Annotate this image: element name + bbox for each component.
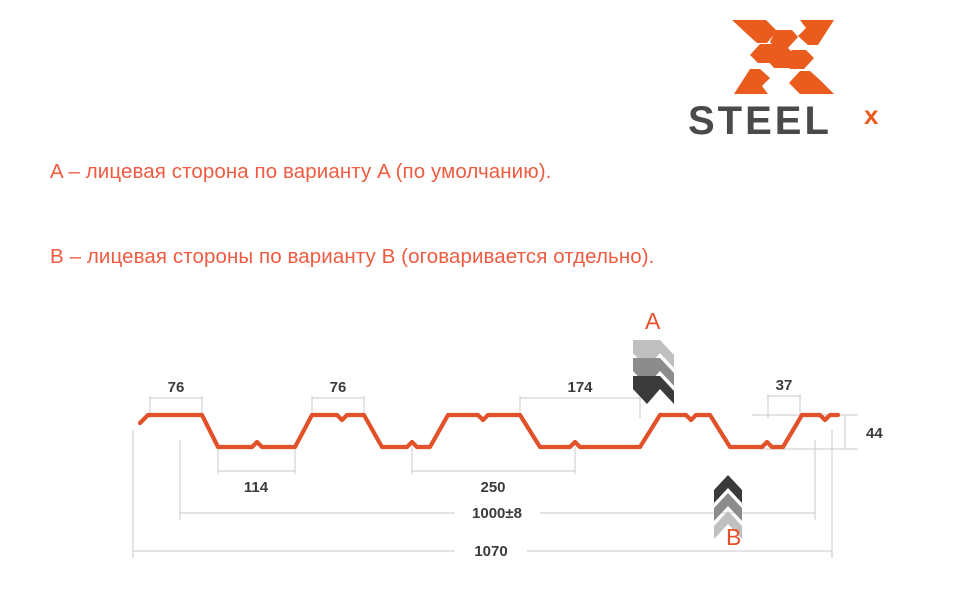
steelx-x-monogram-icon (730, 18, 838, 96)
marker-a-label: A (645, 308, 660, 335)
dim-label-250: 250 (480, 479, 505, 496)
caption-variant-a: A – лицевая сторона по варианту A (по ум… (50, 160, 551, 184)
dim-label-1000: 1000±8 (472, 505, 522, 522)
dimension-labels: 76 76 174 37 114 250 1000±8 1070 44 (168, 377, 884, 560)
dim-label-37: 37 (776, 377, 793, 394)
dimension-extension-lines (133, 394, 858, 558)
marker-b-label: B (726, 524, 741, 551)
steelx-wordmark: STEEL x (688, 100, 918, 142)
dim-label-1070: 1070 (474, 543, 507, 560)
profile-cross-section-drawing: 76 76 174 37 114 250 1000±8 1070 44 (0, 290, 970, 580)
dim-label-76-mid: 76 (330, 379, 347, 396)
dim-label-44: 44 (866, 425, 883, 442)
dim-label-76-left: 76 (168, 379, 185, 396)
wordmark-steel-text: STEEL (688, 100, 832, 142)
brand-logo: STEEL x (688, 18, 918, 143)
trapezoidal-profile-line (140, 415, 838, 447)
wordmark-x-superscript: x (864, 100, 879, 130)
caption-variant-b: B – лицевая стороны по варианту B (огова… (50, 245, 654, 269)
dim-label-114: 114 (244, 479, 269, 496)
marker-a-chevrons-icon (633, 340, 674, 404)
dim-label-174: 174 (567, 379, 593, 396)
